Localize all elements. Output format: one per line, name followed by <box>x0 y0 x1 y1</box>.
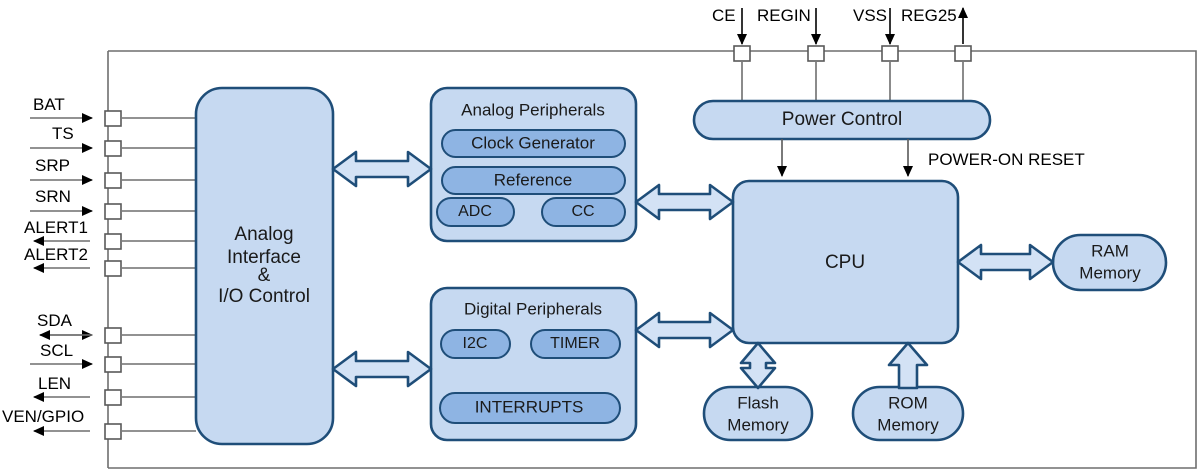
label-digital-peripherals-title: Digital Peripherals <box>464 299 602 318</box>
top-pin-boxes <box>734 46 971 61</box>
bus-cpu-to-flash <box>741 343 775 388</box>
label-clock-generator: Clock Generator <box>471 133 595 152</box>
label-i2c: I2C <box>463 335 488 352</box>
pin-label-bat: BAT <box>33 95 65 114</box>
label-timer: TIMER <box>550 335 600 352</box>
bus-analog-interface-to-digital-peripherals <box>333 352 431 386</box>
label-cpu: CPU <box>825 252 865 273</box>
label-adc: ADC <box>458 203 492 220</box>
pin-label-srp: SRP <box>35 156 70 175</box>
label-analog-interface-line3: & <box>258 265 271 286</box>
pin-label-reg25: REG25 <box>901 6 957 25</box>
pin-label-srn: SRN <box>35 187 71 206</box>
bus-analog-peripherals-to-cpu <box>636 185 733 219</box>
pin-label-sda: SDA <box>37 311 73 330</box>
pin-label-len: LEN <box>38 374 71 393</box>
label-reference: Reference <box>494 170 572 189</box>
power-on-reset-arrows <box>782 139 908 176</box>
label-power-on-reset: POWER-ON RESET <box>928 150 1085 169</box>
label-analog-interface-line1: Analog <box>234 224 293 245</box>
pin-label-scl: SCL <box>40 341 73 360</box>
pin-label-ce: CE <box>712 6 736 25</box>
label-analog-interface-line4: I/O Control <box>218 286 310 307</box>
label-flash-line2: Memory <box>727 415 789 434</box>
label-ram-line1: RAM <box>1091 241 1129 260</box>
label-power-control: Power Control <box>782 109 902 130</box>
label-analog-peripherals-title: Analog Peripherals <box>461 100 605 119</box>
block-diagram-canvas: BAT TS SRP SRN ALERT1 ALERT2 SDA SCL LEN… <box>0 0 1200 474</box>
bus-digital-peripherals-to-cpu <box>636 313 733 347</box>
bus-rom-to-cpu <box>889 343 927 388</box>
pin-label-alert1: ALERT1 <box>24 218 88 237</box>
label-cc: CC <box>571 203 594 220</box>
bus-cpu-to-ram <box>958 245 1053 279</box>
pin-label-ven-gpio: VEN/GPIO <box>2 407 84 426</box>
label-rom-line1: ROM <box>888 393 928 412</box>
pin-label-ts: TS <box>52 124 74 143</box>
label-flash-line1: Flash <box>737 393 779 412</box>
bus-analog-interface-to-analog-peripherals <box>333 152 431 186</box>
pin-label-regin: REGIN <box>757 6 811 25</box>
label-ram-line2: Memory <box>1079 263 1141 282</box>
pin-label-alert2: ALERT2 <box>24 245 88 264</box>
label-rom-line2: Memory <box>877 415 939 434</box>
pin-label-vss: VSS <box>853 6 887 25</box>
label-interrupts: INTERRUPTS <box>475 397 584 416</box>
